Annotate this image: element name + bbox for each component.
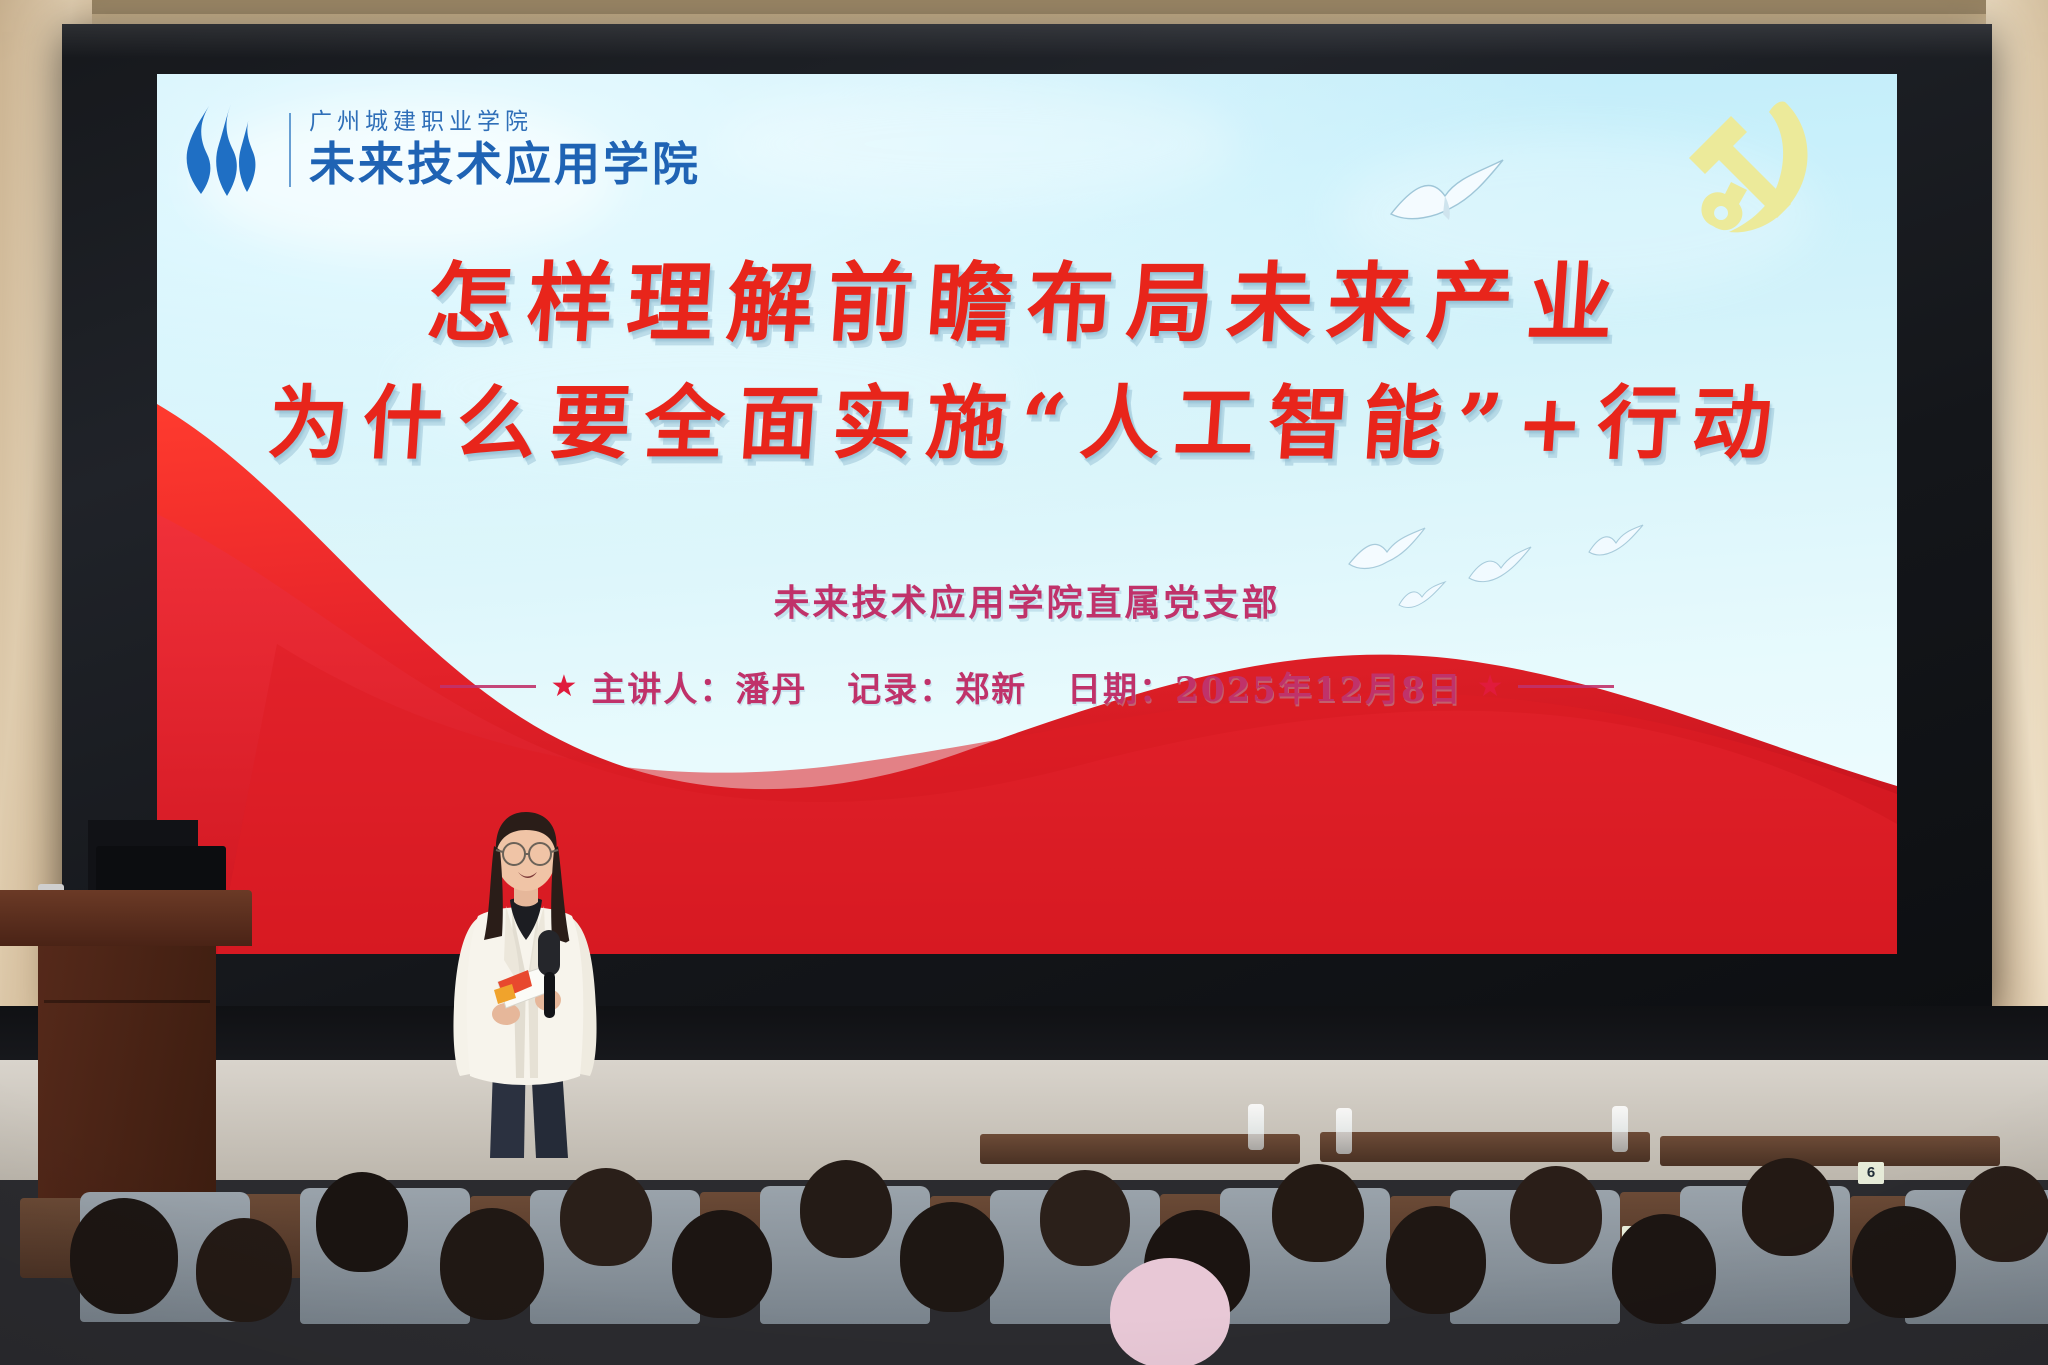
credit-date: 日期：2025年12月8日 <box>1067 670 1463 710</box>
star-icon: ★ <box>550 672 577 702</box>
audience-head <box>70 1198 178 1314</box>
seat-number-label: 6 <box>1858 1162 1884 1184</box>
credit-rule-left <box>440 685 536 688</box>
organization-line: 未来技术应用学院直属党支部 <box>157 574 1897 626</box>
presentation-slide: 广州城建职业学院 未来技术应用学院 <box>157 74 1897 954</box>
credit-speaker: 主讲人：潘丹 <box>591 670 807 710</box>
logo-divider <box>289 113 291 187</box>
seagull-icon <box>1587 522 1645 566</box>
institution-name: 广州城建职业学院 <box>309 108 701 137</box>
credit-recorder: 记录：郑新 <box>847 670 1027 710</box>
room-wall-right <box>1986 0 2048 1010</box>
lecture-hall-scene: 广州城建职业学院 未来技术应用学院 <box>0 0 2048 1365</box>
slide-title-block: 怎样理解前瞻布局未来产业 为什么要全面实施“人工智能”+行动 <box>157 252 1897 475</box>
audience-head <box>1386 1206 1486 1314</box>
credit-text: 主讲人：潘丹 记录：郑新 日期：2025年12月8日 <box>591 662 1462 711</box>
credit-rule-right <box>1518 685 1614 688</box>
audience-head <box>1040 1170 1130 1266</box>
podium-moulding <box>44 1000 210 1003</box>
title-line-1: 怎样理解前瞻布局未来产业 <box>157 252 1897 357</box>
cloud-decoration <box>717 84 1237 204</box>
audience-seating: 6 7 <box>0 1140 2048 1365</box>
presenter-figure <box>420 800 630 1160</box>
audience-head <box>1852 1206 1956 1318</box>
star-icon: ★ <box>1477 672 1504 702</box>
audience-head <box>1742 1158 1834 1256</box>
audience-head <box>1960 1166 2048 1262</box>
ceiling-trim <box>0 0 2048 14</box>
audience-head <box>560 1168 652 1266</box>
audience-head <box>1272 1164 1364 1262</box>
audience-head <box>672 1210 772 1318</box>
audience-head <box>1110 1258 1230 1365</box>
projection-screen-bezel: 广州城建职业学院 未来技术应用学院 <box>62 24 1992 1010</box>
audience-head <box>800 1160 892 1258</box>
audience-head <box>1510 1166 1602 1264</box>
title-line-2: 为什么要全面实施“人工智能”+行动 <box>157 371 1897 475</box>
seagull-icon <box>1387 152 1507 244</box>
bezel-sheen <box>62 24 1992 58</box>
audience-head <box>900 1202 1004 1312</box>
audience-head <box>316 1172 408 1272</box>
audience-head <box>196 1218 292 1322</box>
flame-wave-logo-icon <box>179 102 271 198</box>
audience-head <box>440 1208 544 1320</box>
college-logo-lockup: 广州城建职业学院 未来技术应用学院 <box>179 102 701 198</box>
party-emblem-hammer-sickle-icon <box>1673 94 1821 244</box>
audience-head <box>1612 1214 1716 1324</box>
credit-line: ★ 主讲人：潘丹 记录：郑新 日期：2025年12月8日 ★ <box>157 662 1897 711</box>
podium-top <box>0 890 252 946</box>
college-name: 未来技术应用学院 <box>309 137 701 191</box>
